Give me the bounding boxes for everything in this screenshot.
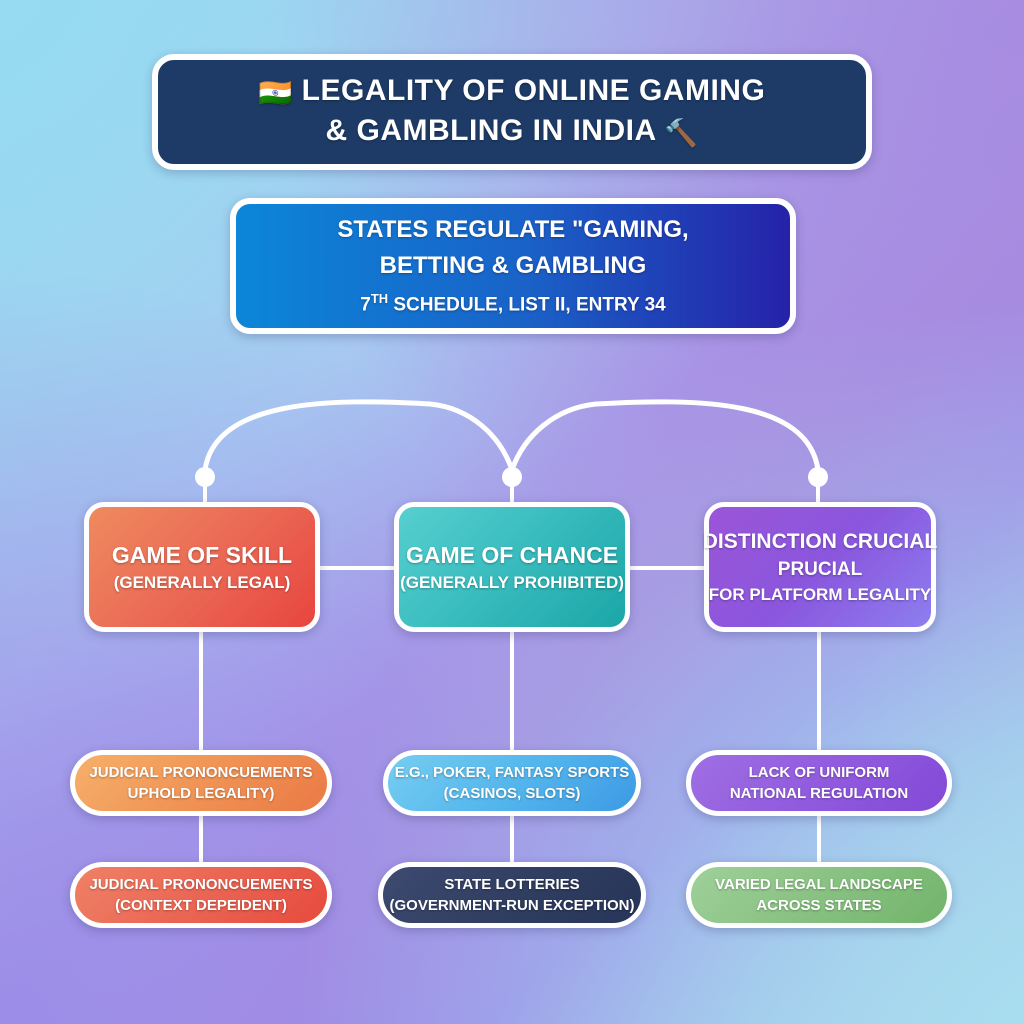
leaf-skill-judicial-context[interactable]: JUDICIAL PRONONCUEMENTS (CONTEXT DEPEIDE… — [70, 862, 332, 928]
category-game-of-skill[interactable]: GAME OF SKILL (GENERALLY LEGAL) — [84, 502, 320, 632]
subtitle-banner: STATES REGULATE "GAMING, BETTING & GAMBL… — [230, 198, 796, 334]
leaf-line-2: (CONTEXT DEPEIDENT) — [115, 895, 287, 916]
leaf-distinction-lack-uniform[interactable]: LACK OF UNIFORM NATIONAL REGULATION — [686, 750, 952, 816]
reference-superscript: TH — [371, 291, 388, 306]
connector-node-right — [808, 467, 828, 487]
leaf-chance-poker-fantasy[interactable]: E.G., POKER, FANTASY SPORTS (CASINOS, SL… — [383, 750, 641, 816]
category-subtitle: PRUCIAL — [778, 557, 862, 582]
leaf-line-1: VARIED LEGAL LANDSCAPE — [715, 874, 923, 895]
leaf-line-1: JUDICIAL PRONONCUEMENTS — [89, 874, 312, 895]
category-title: GAME OF SKILL — [112, 540, 292, 570]
leaf-line-1: LACK OF UNIFORM — [749, 762, 890, 783]
arc-right — [512, 402, 818, 470]
category-title: GAME OF CHANCE — [406, 540, 618, 570]
leaf-skill-judicial-uphold[interactable]: JUDICIAL PRONONCUEMENTS UPHOLD LEGALITY) — [70, 750, 332, 816]
leaf-chance-state-lotteries[interactable]: STATE LOTTERIES (GOVERNMENT-RUN EXCEPTIO… — [378, 862, 646, 928]
connector-node-center — [502, 467, 522, 487]
title-text-2: & GAMBLING IN INDIA — [325, 114, 655, 147]
title-line-1: 🇮🇳 LEGALITY OF ONLINE GAMING — [259, 72, 766, 112]
leaf-line-1: STATE LOTTERIES — [444, 874, 579, 895]
title-banner: 🇮🇳 LEGALITY OF ONLINE GAMING & GAMBLING … — [152, 54, 872, 170]
leaf-line-2: UPHOLD LEGALITY) — [128, 783, 275, 804]
infographic-canvas: 🇮🇳 LEGALITY OF ONLINE GAMING & GAMBLING … — [0, 0, 1024, 1024]
category-subtitle-2: FOR PLATFORM LEGALITY — [709, 582, 932, 607]
leaf-line-2: NATIONAL REGULATION — [730, 783, 908, 804]
connector-node-left — [195, 467, 215, 487]
title-text-1: LEGALITY OF ONLINE GAMING — [302, 74, 766, 107]
reference-prefix: 7 — [360, 294, 371, 315]
leaf-line-2: (CASINOS, SLOTS) — [444, 783, 581, 804]
reference-rest: SCHEDULE, LIST II, ENTRY 34 — [388, 294, 666, 315]
category-subtitle: (GENERALLY LEGAL) — [114, 570, 291, 595]
category-title: DISTINCTION CRUCIAL — [703, 527, 938, 557]
india-flag-icon: 🇮🇳 — [259, 78, 293, 108]
arc-left — [205, 402, 512, 470]
category-subtitle: (GENERALLY PROHIBITED) — [400, 570, 624, 595]
category-game-of-chance[interactable]: GAME OF CHANCE (GENERALLY PROHIBITED) — [394, 502, 630, 632]
category-distinction-crucial[interactable]: DISTINCTION CRUCIAL PRUCIAL FOR PLATFORM… — [704, 502, 936, 632]
leaf-line-2: (GOVERNMENT-RUN EXCEPTION) — [390, 895, 635, 916]
title-line-2: & GAMBLING IN INDIA 🔨 — [325, 112, 698, 152]
subtitle-line-2: BETTING & GAMBLING — [380, 248, 647, 284]
leaf-line-2: ACROSS STATES — [756, 895, 881, 916]
leaf-line-1: E.G., POKER, FANTASY SPORTS — [395, 762, 630, 783]
leaf-line-1: JUDICIAL PRONONCUEMENTS — [89, 762, 312, 783]
subtitle-line-1: STATES REGULATE "GAMING, — [337, 212, 688, 248]
leaf-distinction-varied-landscape[interactable]: VARIED LEGAL LANDSCAPE ACROSS STATES — [686, 862, 952, 928]
subtitle-reference: 7TH SCHEDULE, LIST II, ENTRY 34 — [360, 284, 665, 320]
gavel-icon: 🔨 — [664, 118, 698, 148]
